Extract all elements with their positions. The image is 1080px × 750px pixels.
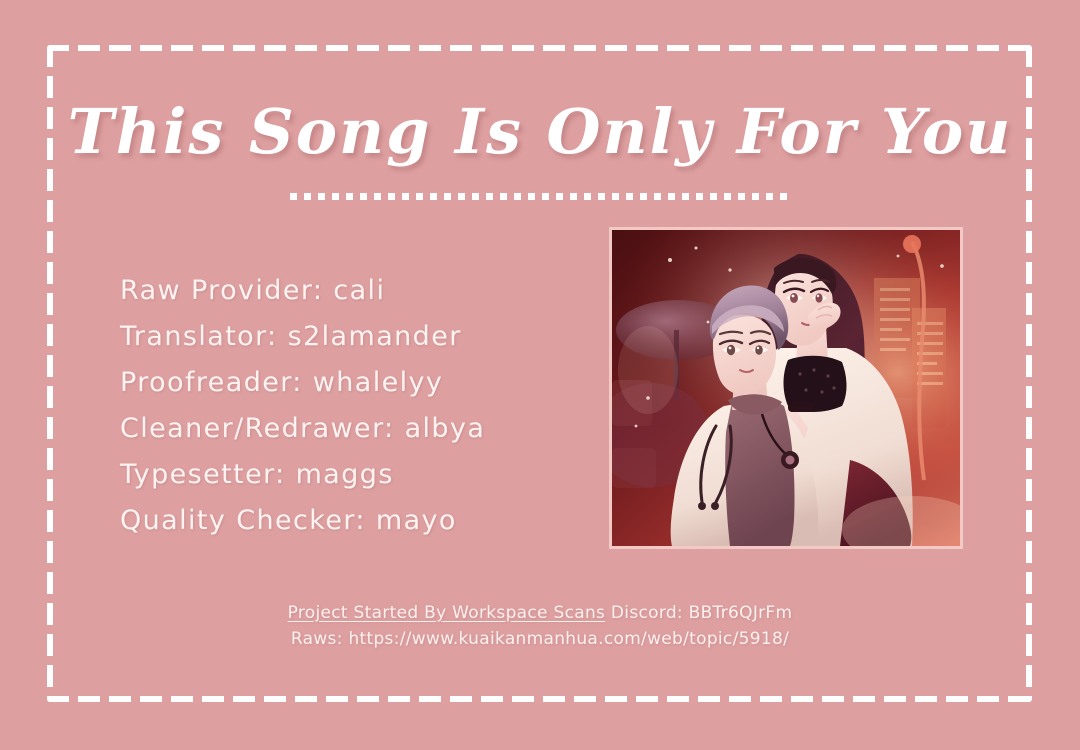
credit-role: Raw Provider: [120,275,323,306]
footer-line-raws: Raws: https://www.kuaikanmanhua.com/web/… [0,626,1080,652]
frame-edge-top [47,45,1032,51]
discord-text: Discord: BBTr6QJrFm [611,603,792,623]
credit-role: Cleaner/Redrawer: [120,413,395,444]
credits-list: Raw Provider: cali Translator: s2lamande… [120,268,590,544]
footer-line-credit: Project Started By Workspace Scans Disco… [0,600,1080,626]
credit-name: cali [333,275,385,306]
credit-row: Proofreader: whalelyy [120,360,590,406]
credit-role: Typesetter: [120,459,286,490]
credit-name: mayo [376,505,457,536]
credit-row: Raw Provider: cali [120,268,590,314]
credit-row: Cleaner/Redrawer: albya [120,406,590,452]
project-credit-text: Project Started By Workspace Scans [288,603,606,623]
credit-name: whalelyy [313,367,444,398]
credit-row: Translator: s2lamander [120,314,590,360]
frame-edge-bottom [47,696,1032,702]
credit-role: Proofreader: [120,367,303,398]
title-divider [290,193,790,200]
credit-name: albya [405,413,486,444]
raws-url: https://www.kuaikanmanhua.com/web/topic/… [348,629,789,649]
raws-label: Raws: [291,629,343,649]
credit-name: s2lamander [288,321,462,352]
credit-row: Typesetter: maggs [120,452,590,498]
illustration-frame [609,227,963,549]
footer: Project Started By Workspace Scans Disco… [0,600,1080,652]
credit-role: Quality Checker: [120,505,366,536]
credit-row: Quality Checker: mayo [120,498,590,544]
illustration-artwork [612,230,960,546]
credit-name: maggs [296,459,394,490]
page-title: This Song Is Only For You [0,96,1080,168]
credits-page: This Song Is Only For You Raw Provider: … [0,0,1080,750]
credit-role: Translator: [120,321,278,352]
